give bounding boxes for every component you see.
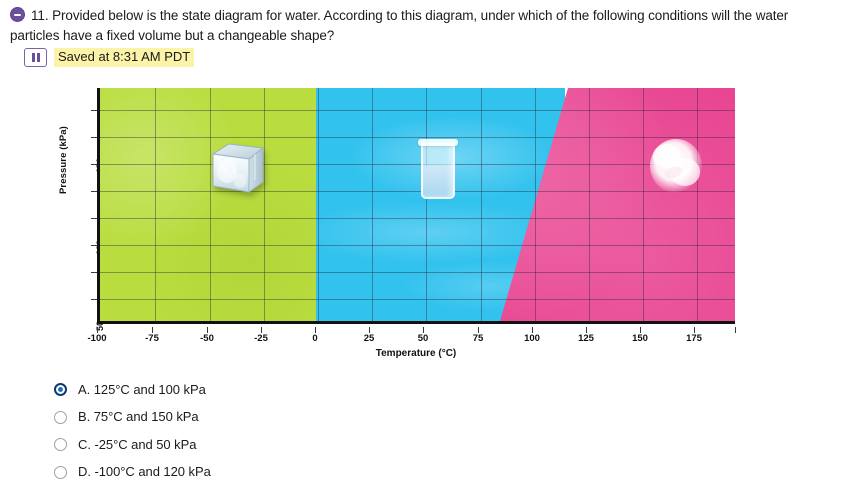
beaker-icon xyxy=(418,137,458,199)
option-label-d: D. -100°C and 120 kPa xyxy=(78,464,211,480)
question-line-2: particles have a fixed volume but a chan… xyxy=(10,26,855,46)
gridline-vertical xyxy=(697,88,698,321)
x-tick-label: -75 xyxy=(145,333,159,344)
x-tick-label: 0 xyxy=(312,333,317,344)
saved-status-row: Saved at 8:31 AM PDT xyxy=(24,48,194,67)
gridline-horizontal xyxy=(100,110,735,111)
question-line-1: 11. Provided below is the state diagram … xyxy=(10,6,855,26)
y-axis-title: Pressure (kPa) xyxy=(58,126,69,194)
x-tick-label: 25 xyxy=(364,333,375,344)
x-axis-tick-labels: -100 -75 -50 -25 0 25 50 75 100 125 150 … xyxy=(97,333,735,347)
gridline-vertical xyxy=(372,88,373,321)
option-row-b[interactable]: B. 75°C and 150 kPa xyxy=(54,404,454,432)
x-tick-label: 75 xyxy=(473,333,484,344)
gridline-vertical xyxy=(589,88,590,321)
x-tick-label: 50 xyxy=(418,333,429,344)
gridline-vertical xyxy=(318,88,319,321)
gridline-vertical xyxy=(210,88,211,321)
beaker-body xyxy=(421,143,455,199)
x-tick-label: -50 xyxy=(200,333,214,344)
question-page: 11. Provided below is the state diagram … xyxy=(0,0,861,490)
x-axis-title: Temperature (°C) xyxy=(97,348,735,359)
option-label-a: A. 125°C and 100 kPa xyxy=(78,382,206,398)
answer-options: A. 125°C and 100 kPa B. 75°C and 150 kPa… xyxy=(54,376,454,486)
gridline-vertical xyxy=(535,88,536,321)
option-label-c: C. -25°C and 50 kPa xyxy=(78,437,196,453)
chart-gridlines xyxy=(100,88,735,321)
radio-option-d[interactable] xyxy=(54,466,67,479)
gridline-vertical xyxy=(264,88,265,321)
question-text-2: particles have a fixed volume but a chan… xyxy=(10,28,334,43)
x-tick xyxy=(735,327,736,333)
pause-icon[interactable] xyxy=(24,48,47,67)
radio-option-c[interactable] xyxy=(54,438,67,451)
x-tick-label: 175 xyxy=(686,333,702,344)
saved-timestamp: Saved at 8:31 AM PDT xyxy=(54,48,194,67)
question-block: 11. Provided below is the state diagram … xyxy=(0,0,861,46)
gridline-horizontal xyxy=(100,299,735,300)
steam-cloud-icon xyxy=(645,136,707,196)
radio-option-b[interactable] xyxy=(54,411,67,424)
gridline-horizontal xyxy=(100,245,735,246)
gridline-vertical xyxy=(426,88,427,321)
ice-cube-icon xyxy=(205,140,267,200)
state-diagram-chart: Pressure (kPa) 150 100 50 xyxy=(60,84,760,359)
option-row-d[interactable]: D. -100°C and 120 kPa xyxy=(54,459,454,487)
gridline-vertical xyxy=(481,88,482,321)
gridline-vertical xyxy=(643,88,644,321)
x-tick-label: -25 xyxy=(254,333,268,344)
x-tick-label: 125 xyxy=(578,333,594,344)
x-tick-label: 100 xyxy=(524,333,540,344)
gridline-horizontal xyxy=(100,272,735,273)
radio-option-a[interactable] xyxy=(54,383,67,396)
minus-circle-icon[interactable] xyxy=(10,7,25,22)
option-row-c[interactable]: C. -25°C and 50 kPa xyxy=(54,431,454,459)
x-tick-label: 150 xyxy=(632,333,648,344)
pause-bar-right xyxy=(37,53,40,62)
gridline-horizontal xyxy=(100,218,735,219)
x-tick-label: -100 xyxy=(87,333,106,344)
plot-area xyxy=(97,88,735,324)
question-text-1: 11. Provided below is the state diagram … xyxy=(31,8,788,23)
plot-inner xyxy=(100,88,735,321)
option-row-a[interactable]: A. 125°C and 100 kPa xyxy=(54,376,454,404)
gridline-vertical xyxy=(155,88,156,321)
pause-bar-left xyxy=(32,53,35,62)
option-label-b: B. 75°C and 150 kPa xyxy=(78,409,199,425)
beaker-rim xyxy=(418,139,458,146)
